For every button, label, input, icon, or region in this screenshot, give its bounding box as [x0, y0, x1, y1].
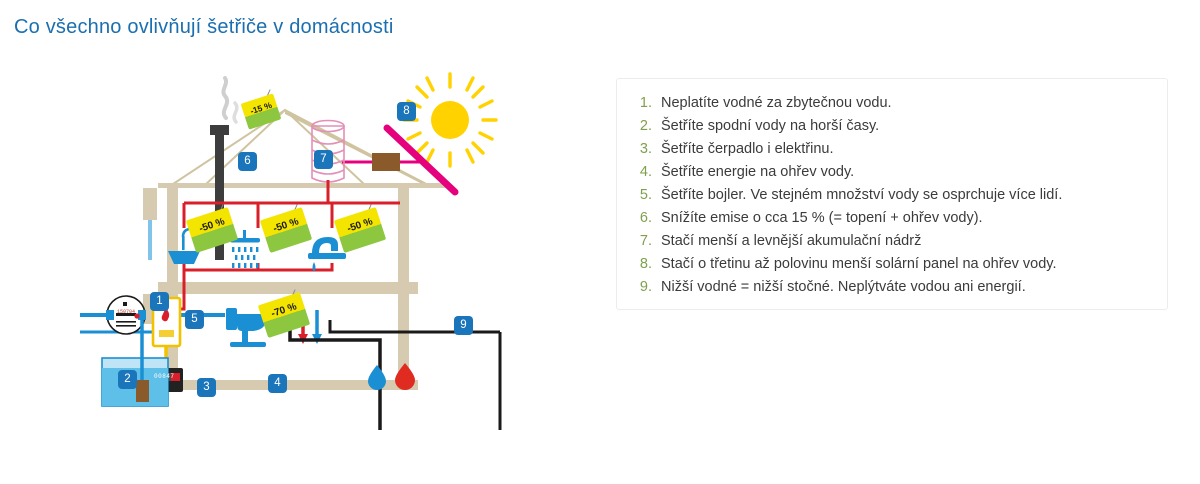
list-item-text: Šetříte čerpadlo i elektřinu. — [661, 141, 833, 157]
water-meter-icon — [106, 296, 146, 334]
list-item-text: Stačí o třetinu až polovinu menší solárn… — [661, 256, 1057, 272]
floor-slab-icon — [158, 282, 418, 294]
badge-3-pump[interactable]: 3 — [197, 378, 216, 397]
tag-chimney-15: -15 % — [244, 98, 278, 125]
list-item-text: Šetříte energie na ohřev vody. — [661, 164, 854, 180]
list-item: 1. Neplatíte vodné za zbytečnou vodu. — [635, 95, 1149, 111]
infographic-diagram: 1 2 3 4 5 6 7 8 9 -15 % -50 % -50 % -50 … — [80, 70, 600, 430]
list-item-text: Nižší vodné = nižší stočné. Neplýtváte v… — [661, 279, 1026, 295]
list-item-number: 9. — [635, 279, 661, 295]
tag-shower-50: -50 % — [264, 213, 308, 247]
list-item-number: 5. — [635, 187, 661, 203]
list-item: 6. Snížíte emise o cca 15 % (= topení + … — [635, 210, 1149, 226]
tips-panel: 1. Neplatíte vodné za zbytečnou vodu. 2.… — [616, 78, 1168, 310]
badge-5-boiler[interactable]: 5 — [185, 310, 204, 329]
solar-collector-box-icon — [372, 153, 400, 171]
list-item: 2. Šetříte spodní vody na horší časy. — [635, 118, 1149, 134]
list-item: 9. Nižší vodné = nižší stočné. Neplýtvát… — [635, 279, 1149, 295]
list-item-number: 2. — [635, 118, 661, 134]
badge-8-solar-panel[interactable]: 8 — [397, 102, 416, 121]
tag-faucet-50: -50 % — [338, 213, 382, 247]
list-item-text: Snížíte emise o cca 15 % (= topení + ohř… — [661, 210, 983, 226]
badge-1-water-meter[interactable]: 1 — [150, 292, 169, 311]
badge-6-chimney[interactable]: 6 — [238, 152, 257, 171]
list-item: 5. Šetříte bojler. Ve stejném množství v… — [635, 187, 1149, 203]
chimney-cap-icon — [210, 125, 229, 135]
badge-9-sewage[interactable]: 9 — [454, 316, 473, 335]
smoke-secondary-icon — [234, 103, 237, 122]
list-item-number: 4. — [635, 164, 661, 180]
smoke-icon — [223, 78, 227, 118]
list-item: 3. Šetříte čerpadlo i elektřinu. — [635, 141, 1149, 157]
tips-list: 1. Neplatíte vodné za zbytečnou vodu. 2.… — [635, 95, 1149, 295]
list-item: 7. Stačí menší a levnější akumulační nád… — [635, 233, 1149, 249]
riser-shaft-icon — [143, 188, 157, 220]
page-title: Co všechno ovlivňují šetřiče v domácnost… — [14, 16, 393, 39]
list-item-number: 3. — [635, 141, 661, 157]
badge-7-accumulation-tank[interactable]: 7 — [314, 150, 333, 169]
badge-2-water-reservoir[interactable]: 2 — [118, 370, 137, 389]
list-item-number: 8. — [635, 256, 661, 272]
wall-left-upper-icon — [167, 188, 178, 288]
pump-icon — [136, 380, 149, 402]
list-item-text: Šetříte spodní vody na horší časy. — [661, 118, 879, 134]
cold-drop-icon — [368, 365, 386, 390]
page-root: Co všechno ovlivňují šetřiče v domácnost… — [0, 0, 1200, 484]
list-item-number: 7. — [635, 233, 661, 249]
badge-4-gas-meter[interactable]: 4 — [268, 374, 287, 393]
sewage-branch-icon — [330, 320, 500, 332]
list-item-text: Neplatíte vodné za zbytečnou vodu. — [661, 95, 892, 111]
list-item-text: Šetříte bojler. Ve stejném množství vody… — [661, 187, 1062, 203]
tag-washbasin-50: -50 % — [190, 213, 234, 247]
list-item-text: Stačí menší a levnější akumulační nádrž — [661, 233, 921, 249]
list-item-number: 6. — [635, 210, 661, 226]
list-item: 8. Stačí o třetinu až polovinu menší sol… — [635, 256, 1149, 272]
water-meter-reading: 150704 — [112, 309, 140, 315]
list-item-number: 1. — [635, 95, 661, 111]
gas-meter-reading: 00847 — [154, 373, 172, 380]
tag-toilet-70: -70 % — [262, 298, 306, 332]
roof-base-beam-icon — [158, 183, 448, 188]
list-item: 4. Šetříte energie na ohřev vody. — [635, 164, 1149, 180]
